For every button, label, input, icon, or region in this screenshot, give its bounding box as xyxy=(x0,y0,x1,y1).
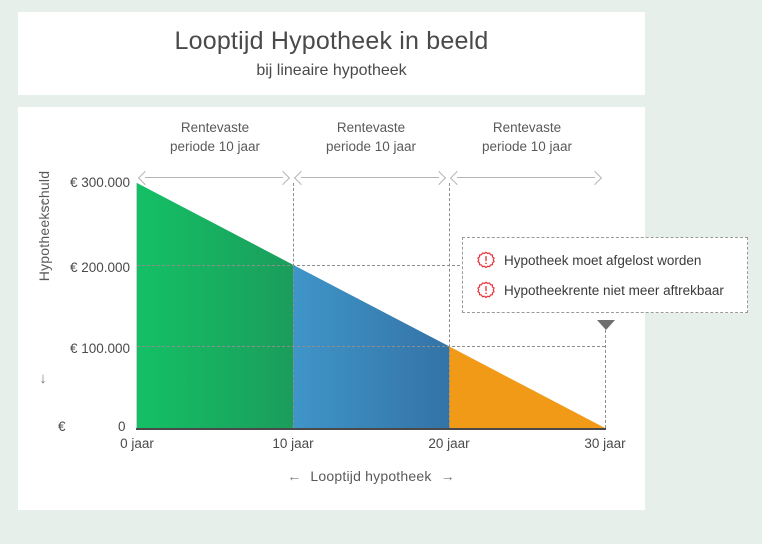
y-tick-zero-value: 0 xyxy=(118,419,126,434)
period-label-1-line1: Rentevaste xyxy=(137,118,293,137)
period-label-2: Rentevaste periode 10 jaar xyxy=(293,118,449,156)
callout-pointer-triangle-icon xyxy=(597,320,615,330)
x-axis-arrow-right-icon: → xyxy=(432,468,464,484)
page-subtitle: bij lineaire hypotheek xyxy=(256,62,406,80)
vline-10-jaar xyxy=(293,183,294,428)
y-axis-title: Hypotheekschuld xyxy=(36,136,52,316)
x-axis-title-text: Looptijd hypotheek xyxy=(310,468,431,484)
x-tick-10-jaar: 10 jaar xyxy=(272,436,313,451)
period-span-arrow-1 xyxy=(139,170,289,184)
y-tick-100000: € 100.000 xyxy=(70,341,130,356)
callout-item-2-text: Hypotheekrente niet meer aftrekbaar xyxy=(504,283,724,298)
x-tick-30-jaar: 30 jaar xyxy=(584,436,625,451)
x-axis-title: ←Looptijd hypotheek→ xyxy=(137,468,605,484)
x-tick-0-jaar: 0 jaar xyxy=(120,436,154,451)
period-label-2-line2: periode 10 jaar xyxy=(293,137,449,156)
warning-seal-icon xyxy=(477,251,495,269)
arrow-shaft xyxy=(145,177,283,178)
y-tick-200000: € 200.000 xyxy=(70,260,130,275)
period-span-arrow-2 xyxy=(295,170,445,184)
callout-item-1: Hypotheek moet afgelost worden xyxy=(477,251,731,269)
title-card: Looptijd Hypotheek in beeld bij lineaire… xyxy=(18,12,645,95)
y-axis-arrow-up-icon: ↑ xyxy=(36,196,50,213)
period-label-3-line1: Rentevaste xyxy=(449,118,605,137)
page-title: Looptijd Hypotheek in beeld xyxy=(175,27,489,56)
area-segment-period-1 xyxy=(137,183,293,428)
x-axis-line xyxy=(136,428,606,430)
period-label-1-line2: periode 10 jaar xyxy=(137,137,293,156)
x-tick-20-jaar: 20 jaar xyxy=(428,436,469,451)
vline-20-jaar xyxy=(449,183,450,428)
vline-30-jaar xyxy=(605,320,606,428)
y-tick-zero-currency: € xyxy=(58,419,66,434)
warning-seal-icon xyxy=(477,281,495,299)
period-label-1: Rentevaste periode 10 jaar xyxy=(137,118,293,156)
callout-item-2: Hypotheekrente niet meer aftrekbaar xyxy=(477,281,731,299)
period-label-3: Rentevaste periode 10 jaar xyxy=(449,118,605,156)
page-root: Looptijd Hypotheek in beeld bij lineaire… xyxy=(0,0,762,544)
period-label-2-line1: Rentevaste xyxy=(293,118,449,137)
y-axis-arrow-down-icon: ↓ xyxy=(36,370,50,387)
callout-item-1-text: Hypotheek moet afgelost worden xyxy=(504,253,701,268)
arrow-shaft xyxy=(301,177,439,178)
x-axis-arrow-left-icon: ← xyxy=(278,468,310,484)
area-segment-period-3 xyxy=(449,346,605,428)
y-tick-300000: € 300.000 xyxy=(70,175,130,190)
gridline-100000 xyxy=(137,346,605,347)
warning-callout: Hypotheek moet afgelost worden Hypotheek… xyxy=(462,237,748,313)
period-span-arrow-3 xyxy=(451,170,601,184)
period-label-3-line2: periode 10 jaar xyxy=(449,137,605,156)
arrow-shaft xyxy=(457,177,595,178)
